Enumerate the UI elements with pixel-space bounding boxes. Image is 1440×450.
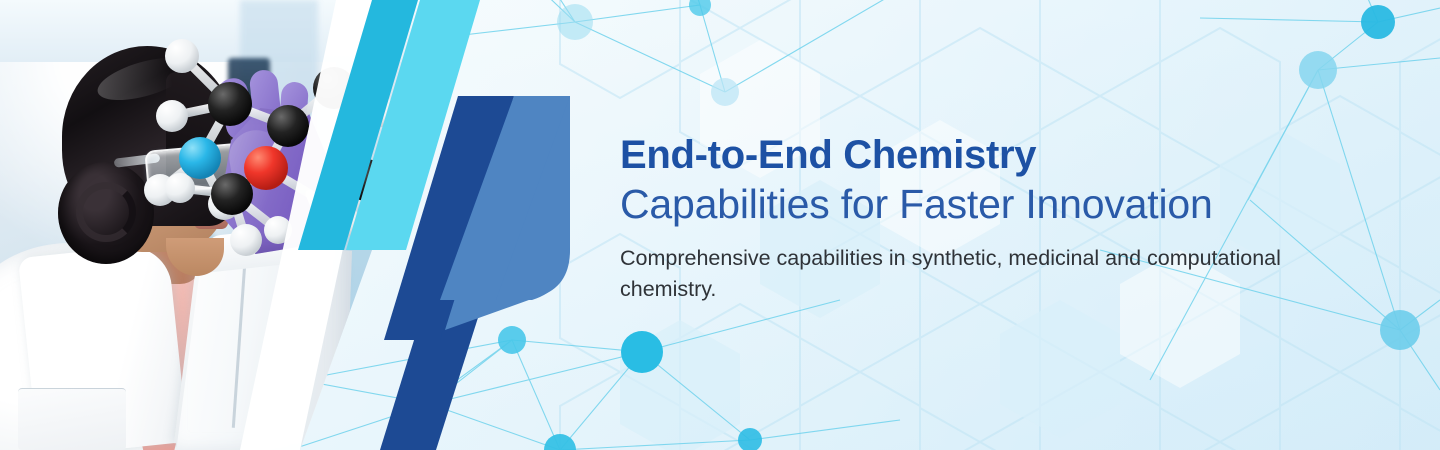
network-node — [1299, 51, 1337, 89]
hydrogen-atom — [165, 39, 199, 73]
coat-pocket — [18, 388, 126, 450]
nitrogen-atom — [179, 137, 221, 179]
decorative-colour-bands — [240, 0, 660, 450]
hero-banner: End-to-End Chemistry Capabilities for Fa… — [0, 0, 1440, 450]
network-node — [1361, 5, 1395, 39]
network-node — [711, 78, 739, 106]
subheadline: Comprehensive capabilities in synthetic,… — [620, 243, 1320, 304]
network-node — [689, 0, 711, 16]
headline-line-2: Capabilities for Faster Innovation — [620, 180, 1360, 229]
hydrogen-atom — [165, 173, 195, 203]
hydrogen-atom — [156, 100, 188, 132]
hero-copy: End-to-End Chemistry Capabilities for Fa… — [620, 132, 1360, 304]
network-node — [1380, 310, 1420, 350]
network-node — [738, 428, 762, 450]
headline-line-1: End-to-End Chemistry — [620, 132, 1360, 178]
